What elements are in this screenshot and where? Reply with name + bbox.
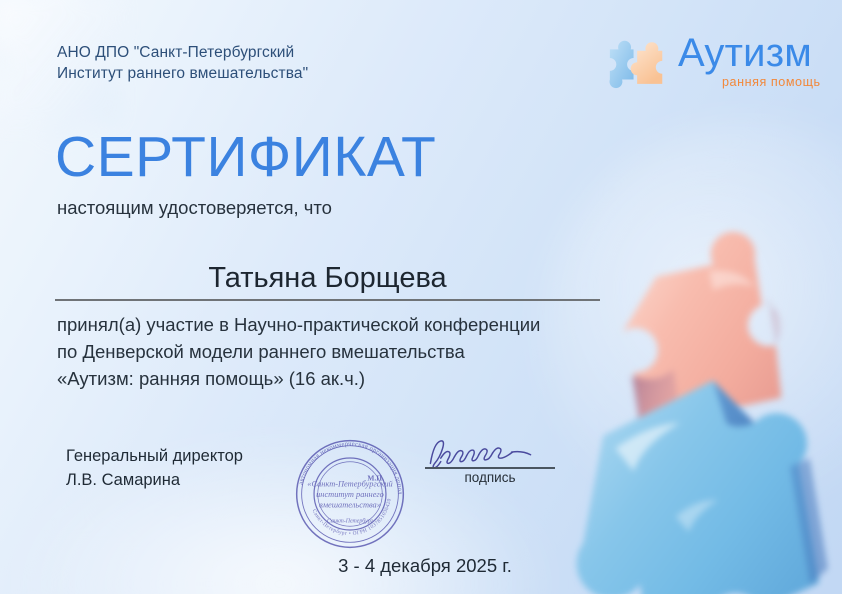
- puzzle-pieces-logo-icon: [604, 35, 676, 91]
- signer-info: Генеральный директор Л.В. Самарина: [66, 444, 243, 492]
- svg-text:институт раннего: институт раннего: [316, 490, 384, 499]
- recipient-name: Татьяна Борщева: [55, 259, 600, 297]
- organization-name: АНО ДПО "Санкт-Петербургский Институт ра…: [57, 42, 308, 84]
- signature-caption: подпись: [425, 470, 555, 485]
- logo-wordmark: Аутизм: [678, 30, 812, 76]
- certificate-page: АНО ДПО "Санкт-Петербургский Институт ра…: [0, 0, 842, 594]
- event-date: 3 - 4 декабря 2025 г.: [260, 555, 590, 577]
- svg-text:Санкт-Петербург: Санкт-Петербург: [327, 518, 374, 525]
- official-stamp-icon: автономная некоммерческая организация до…: [288, 432, 412, 556]
- background-glow-right: [542, 120, 842, 540]
- puzzle-piece-pink-icon: [565, 205, 842, 510]
- svg-text:«Санкт-Петербургский: «Санкт-Петербургский: [307, 480, 393, 489]
- logo-tagline: ранняя помощь: [722, 75, 821, 89]
- svg-text:вмешательства»: вмешательства»: [319, 501, 381, 510]
- puzzle-piece-blue-icon: [505, 304, 842, 594]
- certificate-body-text: принял(а) участие в Научно-практической …: [57, 311, 540, 392]
- brand-logo: Аутизм ранняя помощь: [604, 30, 822, 96]
- recipient-name-rule: [55, 299, 600, 301]
- signature-rule: [425, 467, 555, 469]
- certificate-subtitle: настоящим удостоверяется, что: [57, 197, 332, 219]
- page-title: СЕРТИФИКАТ: [55, 126, 436, 188]
